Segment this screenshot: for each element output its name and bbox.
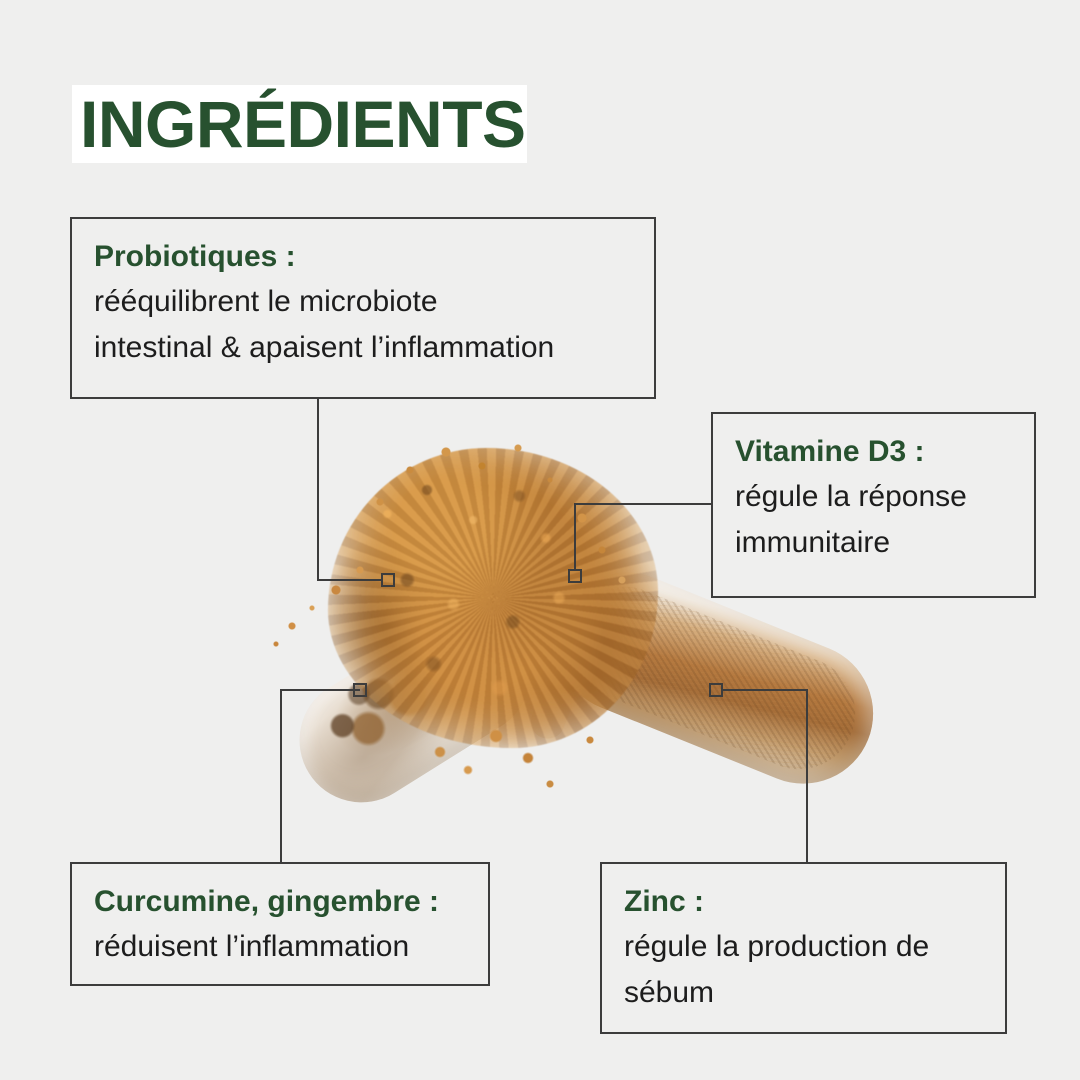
callout-probiotiques-title: Probiotiques : [94, 235, 634, 279]
callout-curcumine-gingembre: Curcumine, gingembre : réduisent l’infla… [70, 862, 490, 986]
callout-vitamine-d3-title: Vitamine D3 : [735, 430, 1014, 474]
page-title: INGRÉDIENTS [80, 87, 526, 161]
callout-vitamine-d3-line-1: régule la réponse [735, 474, 1014, 520]
connector-vitamine-d3 [575, 504, 711, 570]
callout-zinc-title: Zinc : [624, 880, 985, 924]
callout-probiotiques-line-2: intestinal & apaisent l’inflammation [94, 325, 634, 371]
connector-node-zinc [710, 684, 722, 696]
callout-zinc-line-2: sébum [624, 970, 985, 1016]
capsule-body-powder [282, 617, 479, 792]
capsule-cap-rim [526, 614, 605, 744]
callout-zinc-line-1: régule la production de [624, 924, 985, 970]
callout-probiotiques: Probiotiques : rééquilibrent le microbio… [70, 217, 656, 399]
capsule-body [276, 588, 554, 826]
connector-node-probiotiques [382, 574, 394, 586]
connector-node-curcumine [354, 684, 366, 696]
turmeric-powder-mound [328, 448, 658, 748]
callout-vitamine-d3-line-2: immunitaire [735, 520, 1014, 566]
connector-node-vitamine-d3 [569, 570, 581, 582]
callout-curcumine-gingembre-title: Curcumine, gingembre : [94, 880, 468, 924]
infographic-canvas: INGRÉDIENTS Probiotiques : rééquilibrent… [0, 0, 1080, 1080]
callout-vitamine-d3: Vitamine D3 : régule la réponse immunita… [711, 412, 1036, 598]
callout-zinc: Zinc : régule la production de sébum [600, 862, 1007, 1034]
connector-zinc [722, 690, 807, 862]
connector-probiotiques [318, 399, 382, 580]
callout-curcumine-gingembre-line-1: réduisent l’inflammation [94, 924, 468, 970]
turmeric-powder-texture [328, 448, 658, 748]
connector-curcumine [281, 690, 360, 862]
capsule-cap-grain [552, 570, 872, 786]
callout-probiotiques-line-1: rééquilibrent le microbiote [94, 279, 634, 325]
